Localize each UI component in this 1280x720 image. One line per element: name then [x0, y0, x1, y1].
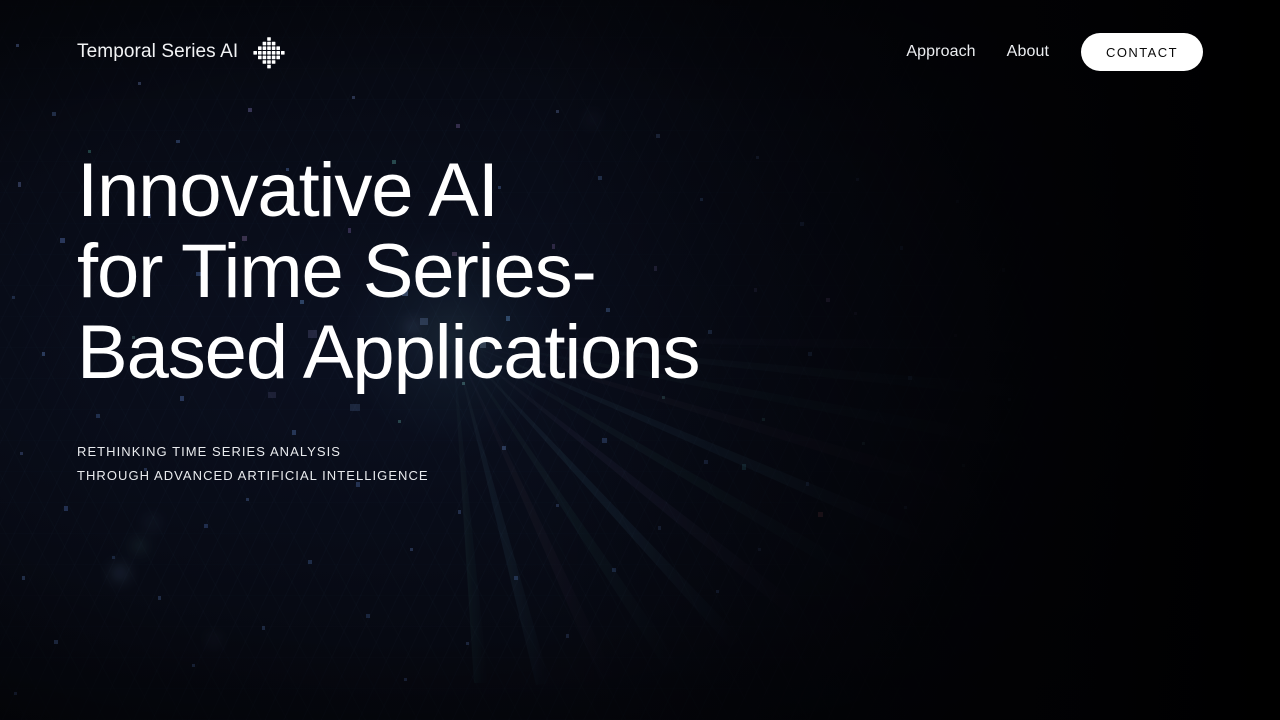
- hero-heading: Innovative AI for Time Series- Based App…: [77, 150, 699, 393]
- contact-button[interactable]: CONTACT: [1081, 33, 1203, 71]
- brand-logo[interactable]: Temporal Series AI: [77, 35, 286, 69]
- nav-link-approach[interactable]: Approach: [906, 43, 975, 61]
- brand-name: Temporal Series AI: [77, 41, 238, 63]
- diamond-dot-matrix-icon: [252, 35, 286, 69]
- primary-nav: Approach About CONTACT: [906, 33, 1203, 71]
- hero-section: Innovative AI for Time Series- Based App…: [77, 150, 699, 488]
- hero-subheading: RETHINKING TIME SERIES ANALYSIS THROUGH …: [77, 440, 699, 488]
- page-root: Temporal Series AI: [0, 0, 1280, 720]
- site-header: Temporal Series AI: [0, 0, 1280, 104]
- nav-link-about[interactable]: About: [1007, 43, 1049, 61]
